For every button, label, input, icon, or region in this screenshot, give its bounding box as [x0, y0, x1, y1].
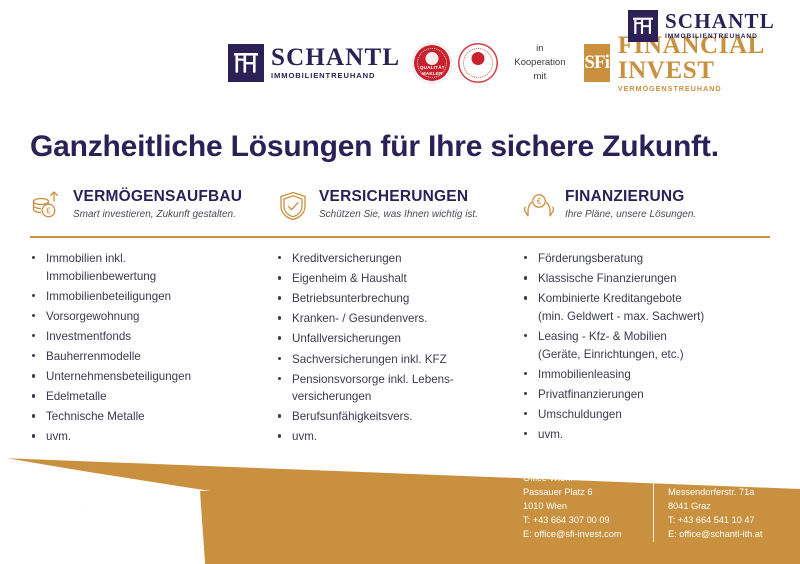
office-name: Office Graz:	[668, 472, 762, 486]
list-item-text: Kreditversicherungen	[292, 252, 402, 265]
column-header-text: VERMÖGENSAUFBAU Smart investieren, Zukun…	[73, 188, 242, 220]
list-item-cont: (Geräte, Einrichtungen, etc.)	[538, 346, 770, 364]
list-item: Kombinierte Kreditangebote(min. Geldwert…	[522, 290, 770, 325]
schantl-wordmark: SCHANTL IMMOBILIENTREUHAND	[271, 45, 400, 80]
list-item: Kranken- / Gesundenvers.	[276, 310, 522, 328]
schantl-name: SCHANTL	[665, 11, 775, 32]
certification-seals: QUALITÄT MAKLER	[412, 43, 498, 83]
seal-emblem	[472, 52, 485, 65]
services-columns: € VERMÖGENSAUFBAU Smart investieren, Zuk…	[30, 188, 770, 449]
page-title: Ganzheitliche Lösungen für Ihre sichere …	[30, 130, 719, 164]
column-header: € FINANZIERUNG Ihre Pläne, unsere Lösung…	[522, 188, 770, 232]
list-item: Unfallversicherungen	[276, 330, 522, 348]
bullet-dot	[278, 377, 281, 380]
list-item: Investmentfonds	[30, 328, 276, 346]
office-phone[interactable]: T: +43 664 541 10 47	[668, 514, 762, 528]
schantl-wordmark: SCHANTL IMMOBILIENTREUHAND	[665, 11, 775, 41]
list-item: Bauherrenmodelle	[30, 348, 276, 366]
bullet-dot	[524, 412, 527, 415]
flyer-page: SCHANTL IMMOBILIENTREUHAND QUALITÄT MAKL…	[0, 0, 800, 564]
svg-text:€: €	[537, 197, 542, 206]
column-title: FINANZIERUNG	[565, 188, 696, 205]
hands-coin-euro-icon: €	[522, 189, 556, 223]
wirtschaftskammer-seal-icon	[458, 43, 498, 83]
list-item-text: Investmentfonds	[46, 330, 131, 343]
list-item-text: Immobilien inkl.	[46, 252, 126, 265]
list-item-text: Sachversicherungen inkl. KFZ	[292, 353, 447, 366]
sfi-subtitle: VERMÖGENSTREUHAND	[618, 85, 800, 92]
list-item-text: Klassische Finanzierungen	[538, 272, 677, 285]
list-item-text: Förderungsberatung	[538, 252, 643, 265]
column-title: VERMÖGENSAUFBAU	[73, 188, 242, 205]
list-item: Leasing - Kfz- & Mobilien(Geräte, Einric…	[522, 328, 770, 363]
schantl-name: SCHANTL	[271, 45, 400, 70]
office-name: Office Wien:	[523, 472, 653, 486]
seal-emblem	[426, 52, 439, 65]
service-list: Kreditversicherungen Eigenheim & Haushal…	[276, 250, 522, 446]
schantl-logo-main: SCHANTL IMMOBILIENTREUHAND	[228, 44, 400, 82]
bullet-dot	[32, 314, 35, 317]
list-item: Eigenheim & Haushalt	[276, 270, 522, 288]
office-email[interactable]: E: office@sfi-invest.com	[523, 528, 653, 542]
column-header: VERSICHERUNGEN Schützen Sie, was Ihnen w…	[276, 188, 522, 232]
list-item: Förderungsberatung	[522, 250, 770, 268]
coins-euro-growth-icon: €	[30, 189, 64, 223]
svg-text:€: €	[46, 207, 51, 216]
bullet-dot	[32, 394, 35, 397]
bullet-dot	[524, 372, 527, 375]
list-item: Berufsunfähigkeitsvers.	[276, 408, 522, 426]
list-item-text: Pensionsvorsorge inkl. Lebens-	[292, 373, 454, 386]
bullet-dot	[278, 296, 281, 299]
bullet-dot	[524, 296, 527, 299]
logo-bar: SCHANTL IMMOBILIENTREUHAND QUALITÄT MAKL…	[0, 0, 800, 108]
list-item-text: Eigenheim & Haushalt	[292, 272, 407, 285]
list-item-cont: versicherungen	[292, 388, 522, 406]
list-item: Klassische Finanzierungen	[522, 270, 770, 288]
column-subtitle: Schützen Sie, was Ihnen wichtig ist.	[319, 209, 478, 220]
list-item: Immobilienleasing	[522, 366, 770, 384]
bullet-dot	[32, 354, 35, 357]
column-finanzierung: € FINANZIERUNG Ihre Pläne, unsere Lösung…	[522, 188, 770, 449]
list-item-text: Betriebsunterbrechung	[292, 292, 409, 305]
list-item: Unternehmensbeteiligungen	[30, 368, 276, 386]
office-city: 8041 Graz	[668, 500, 762, 514]
office-graz: Office Graz: Messendorferstr. 71a 8041 G…	[653, 472, 762, 542]
column-header: € VERMÖGENSAUFBAU Smart investieren, Zuk…	[30, 188, 276, 232]
list-item-text: Bauherrenmodelle	[46, 350, 141, 363]
list-item-text: uvm.	[292, 430, 317, 443]
list-item-text: Leasing - Kfz- & Mobilien	[538, 330, 667, 343]
bullet-dot	[32, 414, 35, 417]
footer-contact: Office Wien: Passauer Platz 6 1010 Wien …	[523, 472, 762, 542]
bullet-dot	[32, 374, 35, 377]
schantl-subtitle: IMMOBILIENTREUHAND	[271, 72, 400, 80]
list-item-text: Kombinierte Kreditangebote	[538, 292, 682, 305]
office-phone[interactable]: T: +43 664 307 00 09	[523, 514, 653, 528]
office-wien: Office Wien: Passauer Platz 6 1010 Wien …	[523, 472, 653, 542]
bullet-dot	[278, 256, 281, 259]
list-item-text: Edelmetalle	[46, 390, 107, 403]
list-item-text: uvm.	[46, 430, 71, 443]
bullet-dot	[524, 276, 527, 279]
schantl-logo-topright: SCHANTL IMMOBILIENTREUHAND	[628, 10, 775, 42]
ith-monogram-icon	[628, 10, 658, 42]
bullet-dot	[524, 334, 527, 337]
bullet-dot	[278, 276, 281, 279]
list-item-text: Privatfinanzierungen	[538, 388, 644, 401]
office-email[interactable]: E: office@schantl-ith.at	[668, 528, 762, 542]
list-item-text: Berufsunfähigkeitsvers.	[292, 410, 413, 423]
column-header-text: FINANZIERUNG Ihre Pläne, unsere Lösungen…	[565, 188, 696, 220]
list-item-text: Kranken- / Gesundenvers.	[292, 312, 427, 325]
seal-label-line2: QUALITÄT	[412, 65, 452, 71]
office-city: 1010 Wien	[523, 500, 653, 514]
column-subtitle: Smart investieren, Zukunft gestalten.	[73, 209, 242, 220]
list-item: uvm.	[522, 426, 770, 444]
column-header-text: VERSICHERUNGEN Schützen Sie, was Ihnen w…	[319, 188, 478, 220]
list-item: Edelmetalle	[30, 388, 276, 406]
list-item-text: Unternehmensbeteiligungen	[46, 370, 191, 383]
list-item: Betriebsunterbrechung	[276, 290, 522, 308]
list-item-text: Immobilienbeteiligungen	[46, 290, 171, 303]
service-list: Förderungsberatung Klassische Finanzieru…	[522, 250, 770, 444]
bullet-dot	[278, 316, 281, 319]
list-item-text: Technische Metalle	[46, 410, 145, 423]
list-item: Umschuldungen	[522, 406, 770, 424]
list-item: Immobilienbeteiligungen	[30, 288, 276, 306]
column-vermoegensaufbau: € VERMÖGENSAUFBAU Smart investieren, Zuk…	[30, 188, 276, 449]
list-item: Technische Metalle	[30, 408, 276, 426]
sfi-monogram-icon: SFi	[584, 44, 610, 82]
list-item-text: Unfallversicherungen	[292, 332, 401, 345]
list-item: Sachversicherungen inkl. KFZ	[276, 351, 522, 369]
list-item: Privatfinanzierungen	[522, 386, 770, 404]
bullet-dot	[32, 334, 35, 337]
bullet-dot	[32, 256, 35, 259]
schantl-subtitle: IMMOBILIENTREUHAND	[665, 34, 775, 41]
cooperation-line-1: in	[514, 42, 565, 56]
seal-label-line3: MAKLER	[412, 71, 452, 77]
list-item: Pensionsvorsorge inkl. Lebens-versicheru…	[276, 371, 522, 406]
cooperation-note: in Kooperation mit	[514, 42, 565, 83]
ith-monogram-icon	[228, 44, 264, 82]
qualitaets-makler-seal-icon: QUALITÄT MAKLER	[412, 43, 452, 83]
bullet-dot	[524, 432, 527, 435]
list-item-cont: Immobilienbewertung	[46, 268, 276, 286]
service-list: Immobilien inkl.Immobilienbewertung Immo…	[30, 250, 276, 446]
list-item: Vorsorgewohnung	[30, 308, 276, 326]
list-item: Immobilien inkl.Immobilienbewertung	[30, 250, 276, 285]
list-item-text: uvm.	[538, 428, 563, 441]
list-item-text: Vorsorgewohnung	[46, 310, 139, 323]
column-versicherungen: VERSICHERUNGEN Schützen Sie, was Ihnen w…	[276, 188, 522, 449]
cooperation-line-3: mit	[514, 70, 565, 84]
office-street: Passauer Platz 6	[523, 486, 653, 500]
cooperation-line-2: Kooperation	[514, 56, 565, 70]
bullet-dot	[32, 294, 35, 297]
bullet-dot	[524, 392, 527, 395]
office-street: Messendorferstr. 71a	[668, 486, 762, 500]
bullet-dot	[524, 256, 527, 259]
bullet-dot	[278, 414, 281, 417]
bullet-dot	[278, 357, 281, 360]
list-item-text: Umschuldungen	[538, 408, 622, 421]
column-subtitle: Ihre Pläne, unsere Lösungen.	[565, 209, 696, 220]
bullet-dot	[32, 434, 35, 437]
column-title: VERSICHERUNGEN	[319, 188, 478, 205]
list-item-text: Immobilienleasing	[538, 368, 631, 381]
bullet-dot	[278, 336, 281, 339]
bullet-dot	[278, 434, 281, 437]
shield-check-icon	[276, 189, 310, 223]
list-item: Kreditversicherungen	[276, 250, 522, 268]
list-item-cont: (min. Geldwert - max. Sachwert)	[538, 308, 770, 326]
